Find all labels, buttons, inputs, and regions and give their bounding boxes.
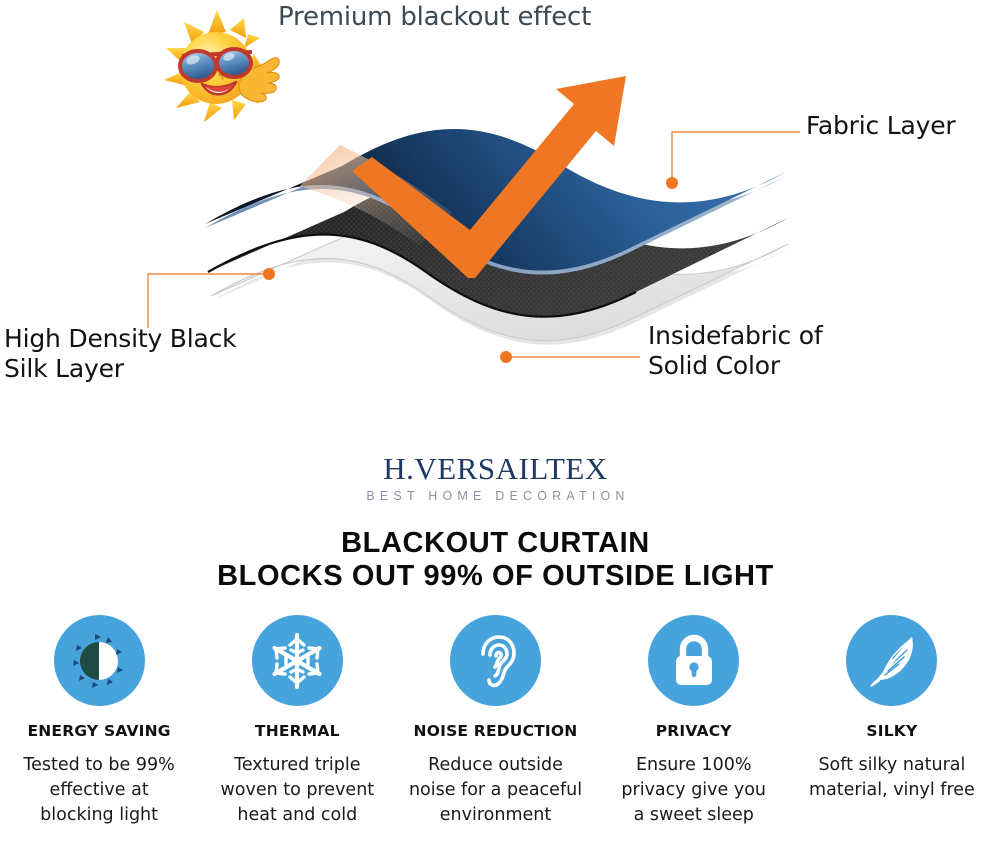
feature-description: Ensure 100% privacy give you a sweet sle… <box>621 753 766 828</box>
feature-title: THERMAL <box>255 722 340 740</box>
premium-blackout-effect-label: Premium blackout effect <box>278 2 591 32</box>
fabric-layer-dot <box>666 177 678 189</box>
silk-layer-dot <box>263 268 275 280</box>
inside-fabric-label: Insidefabric of Solid Color <box>648 321 822 381</box>
feature-title: NOISE REDUCTION <box>414 722 578 740</box>
headline-line-1: BLACKOUT CURTAIN <box>0 527 991 560</box>
feature-description: Tested to be 99% effective at blocking l… <box>23 753 174 828</box>
feature-title: SILKY <box>866 722 917 740</box>
brand-logo: H.VERSAILTEX BEST HOME DECORATION <box>0 452 991 504</box>
product-headline: BLACKOUT CURTAIN BLOCKS OUT 99% OF OUTSI… <box>0 527 991 593</box>
feature-icon-badge <box>450 615 541 706</box>
brand-tagline: BEST HOME DECORATION <box>0 488 991 504</box>
feature-title: PRIVACY <box>656 722 732 740</box>
feature-item-privacy: PRIVACY Ensure 100% privacy give you a s… <box>595 615 793 848</box>
feather-icon <box>863 632 921 690</box>
lock-icon <box>667 633 721 689</box>
feature-description: Reduce outside noise for a peaceful envi… <box>409 753 582 828</box>
brand-name: H.VERSAILTEX <box>0 452 991 486</box>
feature-icon-badge <box>846 615 937 706</box>
feature-item-thermal: THERMAL Textured triple woven to prevent… <box>198 615 396 848</box>
headline-line-2: BLOCKS OUT 99% OF OUTSIDE LIGHT <box>0 560 991 593</box>
feature-icon-badge <box>252 615 343 706</box>
high-density-black-silk-layer-label: High Density Black Silk Layer <box>4 324 236 384</box>
fabric-layer-label: Fabric Layer <box>806 111 956 141</box>
fabric-layers-diagram: Premium blackout effect Fabric Layer Ins… <box>0 0 991 430</box>
feature-title: ENERGY SAVING <box>27 722 170 740</box>
feature-description: Textured triple woven to prevent heat an… <box>220 753 374 828</box>
feature-icon-badge <box>648 615 739 706</box>
feature-list: ENERGY SAVING Tested to be 99% effective… <box>0 615 991 848</box>
inside-fabric-dot <box>500 351 512 363</box>
half-sun-energy-icon <box>68 630 130 692</box>
ear-icon <box>467 632 525 690</box>
snowflake-icon <box>267 631 327 691</box>
feature-item-silky: SILKY Soft silky natural material, vinyl… <box>793 615 991 848</box>
feature-item-noise-reduction: NOISE REDUCTION Reduce outside noise for… <box>396 615 594 848</box>
infographic-page: Premium blackout effect Fabric Layer Ins… <box>0 0 991 848</box>
feature-item-energy-saving: ENERGY SAVING Tested to be 99% effective… <box>0 615 198 848</box>
sun-with-sunglasses-icon <box>160 8 290 128</box>
feature-icon-badge <box>54 615 145 706</box>
feature-description: Soft silky natural material, vinyl free <box>809 753 975 803</box>
